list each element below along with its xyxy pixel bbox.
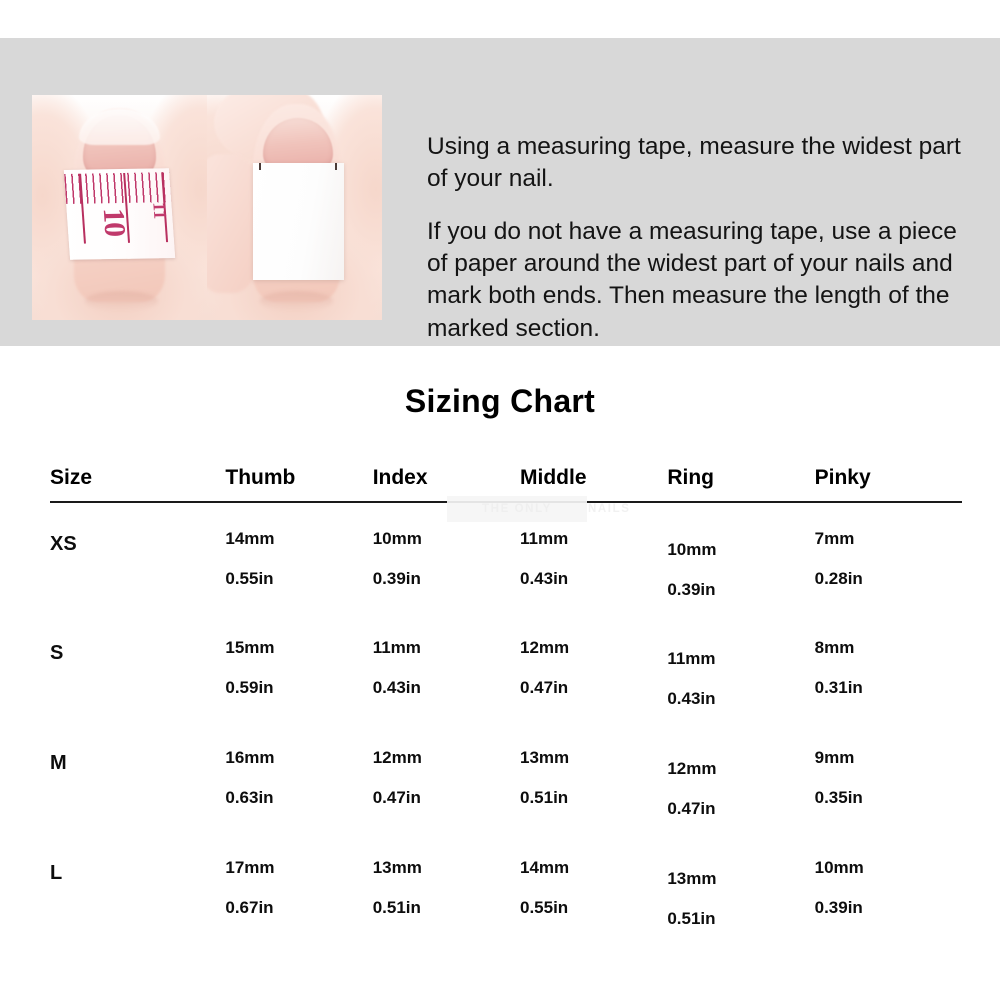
row-size-label-cell: S [50, 612, 225, 722]
table-row: M 16mm 0.63in 12mm 0.47in 13mm [50, 722, 962, 832]
measurement-photo-block: 10 11 [32, 95, 382, 320]
value-in: 0.59in [225, 678, 372, 698]
cell-index: 10mm 0.39in [373, 502, 520, 612]
value-in: 0.63in [225, 788, 372, 808]
instruction-paragraph-1: Using a measuring tape, measure the wide… [427, 131, 979, 196]
sizing-table: Size Thumb Index Middle Ring Pinky XS 14… [50, 466, 962, 942]
cell-ring: 13mm 0.51in [667, 832, 814, 942]
column-header-middle: Middle [520, 466, 667, 502]
tape-number-11: 11 [148, 203, 170, 220]
value-mm: 17mm [225, 858, 372, 878]
value-mm: 14mm [520, 858, 667, 878]
value-mm: 15mm [225, 638, 372, 658]
knuckle-crease [85, 291, 159, 311]
instruction-paragraph-2: If you do not have a measuring tape, use… [427, 216, 979, 345]
row-size-label-cell: M [50, 722, 225, 832]
value-in: 0.47in [520, 678, 667, 698]
value-mm: 11mm [667, 649, 814, 669]
paper-strip-photo [207, 95, 382, 320]
value-mm: 13mm [520, 748, 667, 768]
cell-pinky: 8mm 0.31in [815, 612, 962, 722]
sizing-table-wrapper: Size Thumb Index Middle Ring Pinky XS 14… [50, 466, 962, 942]
value-in: 0.47in [667, 799, 814, 819]
instruction-panel: 10 11 Using a measuring tape, measure th… [0, 38, 1000, 346]
cell-thumb: 15mm 0.59in [225, 612, 372, 722]
value-mm: 13mm [667, 869, 814, 889]
column-header-size: Size [50, 466, 225, 502]
value-in: 0.51in [520, 788, 667, 808]
value-mm: 13mm [373, 858, 520, 878]
table-row: XS 14mm 0.55in 10mm 0.39in 11mm [50, 502, 962, 612]
value-mm: 11mm [373, 638, 520, 658]
value-mm: 10mm [667, 540, 814, 560]
paper-end-mark [259, 163, 261, 170]
value-mm: 12mm [520, 638, 667, 658]
value-mm: 14mm [225, 529, 372, 549]
cell-index: 12mm 0.47in [373, 722, 520, 832]
cell-middle: 12mm 0.47in [520, 612, 667, 722]
value-in: 0.43in [667, 689, 814, 709]
column-header-thumb: Thumb [225, 466, 372, 502]
cell-ring: 12mm 0.47in [667, 722, 814, 832]
value-mm: 11mm [520, 529, 667, 549]
cell-thumb: 16mm 0.63in [225, 722, 372, 832]
size-label: S [50, 612, 225, 665]
measuring-tape-strip: 10 11 [64, 168, 175, 260]
value-mm: 10mm [815, 858, 962, 878]
cell-ring: 10mm 0.39in [667, 502, 814, 612]
column-header-index: Index [373, 466, 520, 502]
value-in: 0.67in [225, 898, 372, 918]
cell-index: 11mm 0.43in [373, 612, 520, 722]
table-row: L 17mm 0.67in 13mm 0.51in 14mm [50, 832, 962, 942]
value-in: 0.39in [667, 580, 814, 600]
cell-middle: 14mm 0.55in [520, 832, 667, 942]
value-in: 0.43in [373, 678, 520, 698]
cell-thumb: 14mm 0.55in [225, 502, 372, 612]
cell-middle: 13mm 0.51in [520, 722, 667, 832]
size-label: XS [50, 503, 225, 556]
tape-number-10: 10 [95, 208, 131, 237]
paper-end-mark [335, 163, 337, 170]
value-in: 0.55in [520, 898, 667, 918]
size-label: L [50, 832, 225, 885]
cell-ring: 11mm 0.43in [667, 612, 814, 722]
value-mm: 16mm [225, 748, 372, 768]
value-in: 0.51in [373, 898, 520, 918]
table-header-row: Size Thumb Index Middle Ring Pinky [50, 466, 962, 502]
cell-pinky: 9mm 0.35in [815, 722, 962, 832]
column-header-pinky: Pinky [815, 466, 962, 502]
value-in: 0.51in [667, 909, 814, 929]
row-size-label-cell: L [50, 832, 225, 942]
row-size-label-cell: XS [50, 502, 225, 612]
cell-index: 13mm 0.51in [373, 832, 520, 942]
value-in: 0.55in [225, 569, 372, 589]
value-in: 0.28in [815, 569, 962, 589]
table-row: S 15mm 0.59in 11mm 0.43in 12mm [50, 612, 962, 722]
column-header-ring: Ring [667, 466, 814, 502]
paper-strip [253, 163, 344, 280]
value-mm: 12mm [373, 748, 520, 768]
cell-thumb: 17mm 0.67in [225, 832, 372, 942]
value-mm: 10mm [373, 529, 520, 549]
value-in: 0.39in [373, 569, 520, 589]
cell-pinky: 7mm 0.28in [815, 502, 962, 612]
page-title: Sizing Chart [0, 383, 1000, 420]
value-mm: 9mm [815, 748, 962, 768]
cell-pinky: 10mm 0.39in [815, 832, 962, 942]
value-mm: 8mm [815, 638, 962, 658]
value-mm: 12mm [667, 759, 814, 779]
value-in: 0.31in [815, 678, 962, 698]
value-in: 0.43in [520, 569, 667, 589]
value-in: 0.35in [815, 788, 962, 808]
size-label: M [50, 722, 225, 775]
measuring-tape-photo: 10 11 [32, 95, 207, 320]
instruction-text-block: Using a measuring tape, measure the wide… [427, 131, 979, 345]
value-in: 0.39in [815, 898, 962, 918]
value-in: 0.47in [373, 788, 520, 808]
value-mm: 7mm [815, 529, 962, 549]
cell-middle: 11mm 0.43in [520, 502, 667, 612]
knuckle-crease [260, 291, 334, 311]
